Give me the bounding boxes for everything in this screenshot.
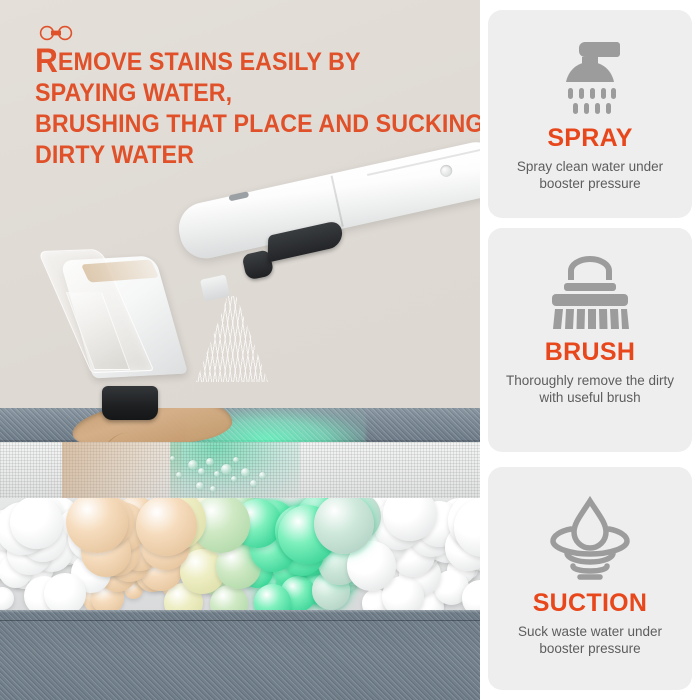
foam-sphere xyxy=(0,587,14,610)
water-droplet xyxy=(210,486,216,492)
water-droplet xyxy=(259,472,266,479)
headline-line-1: Remove stains easily by xyxy=(35,47,435,78)
water-spray-fan xyxy=(196,296,268,382)
water-droplet xyxy=(214,471,220,477)
hero-panel: Remove stains easily by Spaying water, B… xyxy=(0,0,480,700)
water-drop-suction-icon xyxy=(540,493,640,587)
feature-card-suction[interactable]: SUCTION Suck waste water under booster p… xyxy=(488,467,692,690)
handheld-cleaner xyxy=(62,200,480,450)
foam-sphere xyxy=(254,584,292,612)
feature-description: Suck waste water under booster pressure xyxy=(488,623,692,657)
headline-line-3: Brushing that place and sucking xyxy=(35,109,435,140)
water-droplet xyxy=(198,468,205,475)
wand-vent-slot xyxy=(228,191,249,201)
foam-sphere-bed xyxy=(0,498,480,612)
feature-card-brush[interactable]: BRUSH Thoroughly remove the dirty with u… xyxy=(488,228,692,452)
product-infographic: Remove stains easily by Spaying water, B… xyxy=(0,0,700,700)
mattress-cross-section xyxy=(0,408,480,700)
water-droplet xyxy=(250,480,257,487)
water-droplet xyxy=(206,458,214,466)
feature-card-spray[interactable]: SPRAY Spray clean water under booster pr… xyxy=(488,10,692,218)
wand-button[interactable] xyxy=(439,164,453,178)
suction-nozzle xyxy=(102,386,158,420)
water-droplet xyxy=(196,482,204,490)
headline-line-2: Spaying water, xyxy=(35,78,435,109)
water-droplet xyxy=(231,476,237,482)
foam-sphere xyxy=(44,573,86,612)
water-droplet xyxy=(241,468,250,477)
feature-card-list: SPRAY Spray clean water under booster pr… xyxy=(480,0,700,700)
feature-title: SUCTION xyxy=(533,591,648,616)
spray-nozzle xyxy=(200,274,230,301)
wand-seam xyxy=(331,176,344,227)
water-droplet xyxy=(233,457,239,463)
feature-title: BRUSH xyxy=(545,340,635,365)
shower-head-icon xyxy=(544,30,636,122)
water-droplet xyxy=(221,464,232,475)
page-headline: Remove stains easily by Spaying water, B… xyxy=(35,47,435,171)
fabric-seam xyxy=(0,620,480,621)
feature-title: SPRAY xyxy=(547,126,632,151)
scrub-brush-icon xyxy=(540,250,640,336)
goggles-icon xyxy=(36,24,76,42)
feature-description: Thoroughly remove the dirty with useful … xyxy=(488,372,692,406)
membrane-clean-tint xyxy=(170,442,300,500)
water-droplet xyxy=(176,472,182,478)
water-droplet xyxy=(170,456,175,461)
membrane-dirt-stain xyxy=(62,442,182,500)
water-droplet xyxy=(188,460,198,470)
mattress-bottom-fabric xyxy=(0,610,480,700)
feature-description: Spray clean water under booster pressure xyxy=(488,158,692,192)
